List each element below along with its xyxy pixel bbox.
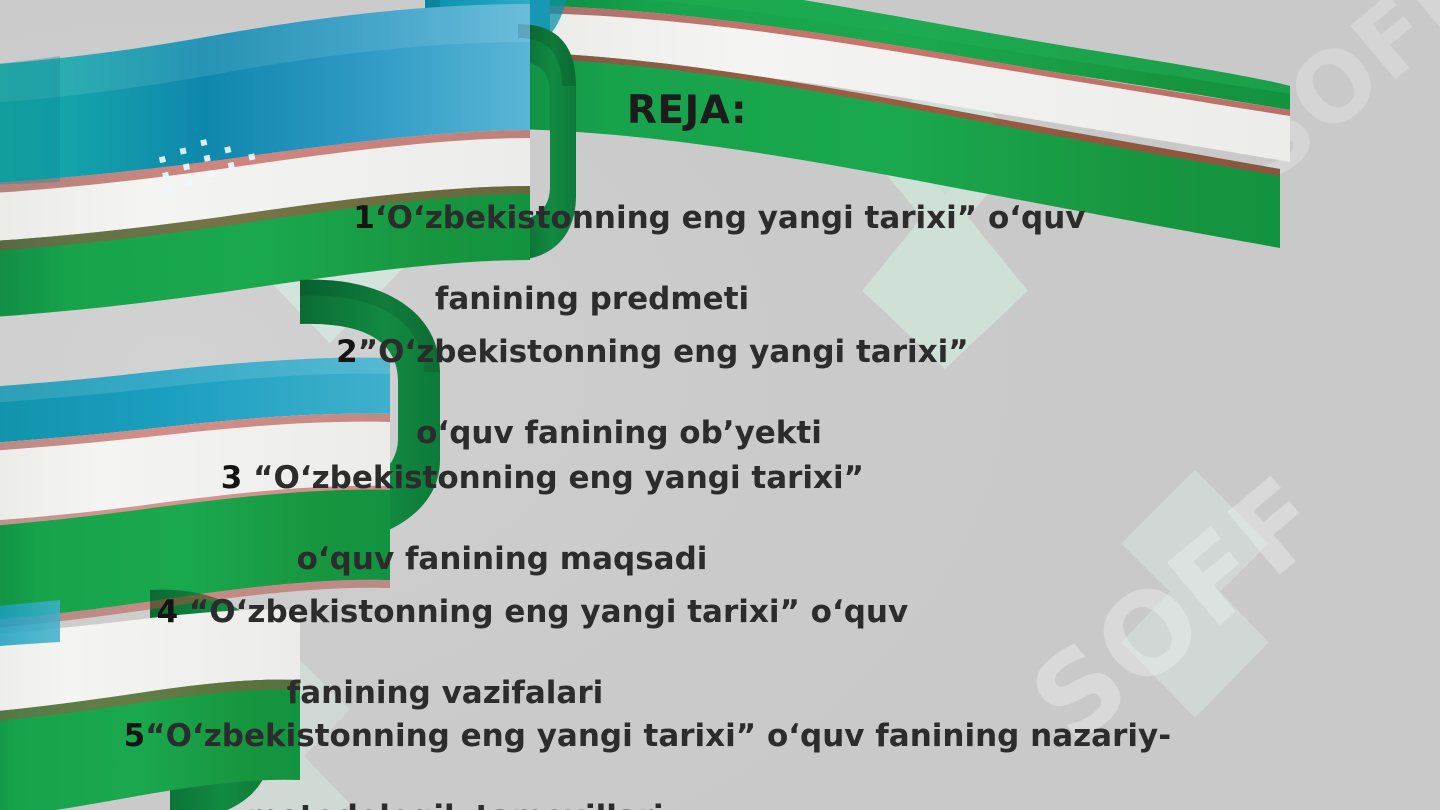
- list-item-number: 4: [157, 594, 179, 630]
- list-item-number: 5: [124, 718, 146, 754]
- list-item: 5“O‘zbekistonning eng yangi tarixi” o‘qu…: [0, 676, 1230, 810]
- list-item-line1: ‘O‘zbekistonning eng yangi tarixi” o‘quv: [375, 200, 1086, 236]
- presentation-slide: SOFF SOFF SOFF: [0, 0, 1440, 810]
- slide-content: REJA: 1‘O‘zbekistonning eng yangi tarixi…: [0, 0, 1440, 810]
- list-item-number: 2: [336, 334, 358, 370]
- list-item-number: 1: [353, 200, 375, 236]
- list-item-line1: ”O‘zbekistonning eng yangi tarixi”: [358, 334, 969, 370]
- page-title: REJA:: [0, 88, 1374, 133]
- list-item-number: 3: [221, 460, 243, 496]
- list-item-line2: metodologik tamoyillari: [0, 797, 1230, 810]
- list-item-line1: “O‘zbekistonning eng yangi tarixi” o‘quv…: [145, 718, 1171, 754]
- list-item-line1: “O‘zbekistonning eng yangi tarixi”: [242, 460, 864, 496]
- list-item-line1: “O‘zbekistonning eng yangi tarixi” o‘quv: [178, 594, 908, 630]
